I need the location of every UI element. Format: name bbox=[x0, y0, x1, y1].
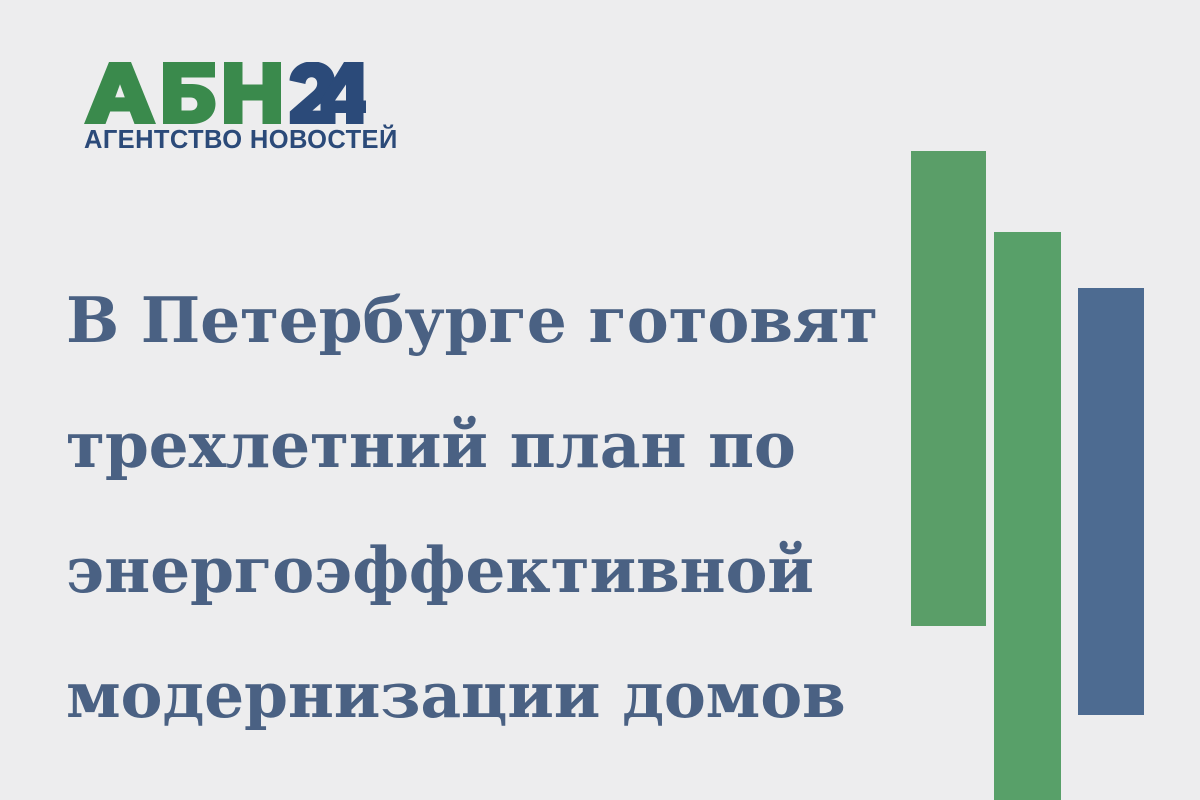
chart-bar-3 bbox=[1078, 288, 1144, 715]
headline-line-3: энергоэффективной bbox=[66, 508, 876, 633]
headline-line-2: трехлетний план по bbox=[66, 383, 876, 508]
logo-wordmark-icon bbox=[84, 62, 366, 124]
headline-line-4: модернизации домов bbox=[66, 633, 876, 758]
news-card: АГЕНТСТВО НОВОСТЕЙ В Петербурге готовят … bbox=[0, 0, 1200, 800]
page-title: В Петербурге готовят трехлетний план по … bbox=[66, 258, 876, 758]
chart-bar-1 bbox=[911, 151, 986, 626]
headline-line-1: В Петербурге готовят bbox=[66, 258, 876, 383]
logo-tagline: АГЕНТСТВО НОВОСТЕЙ bbox=[84, 128, 374, 154]
chart-bar-2 bbox=[994, 232, 1061, 800]
site-logo[interactable]: АГЕНТСТВО НОВОСТЕЙ bbox=[84, 62, 374, 157]
